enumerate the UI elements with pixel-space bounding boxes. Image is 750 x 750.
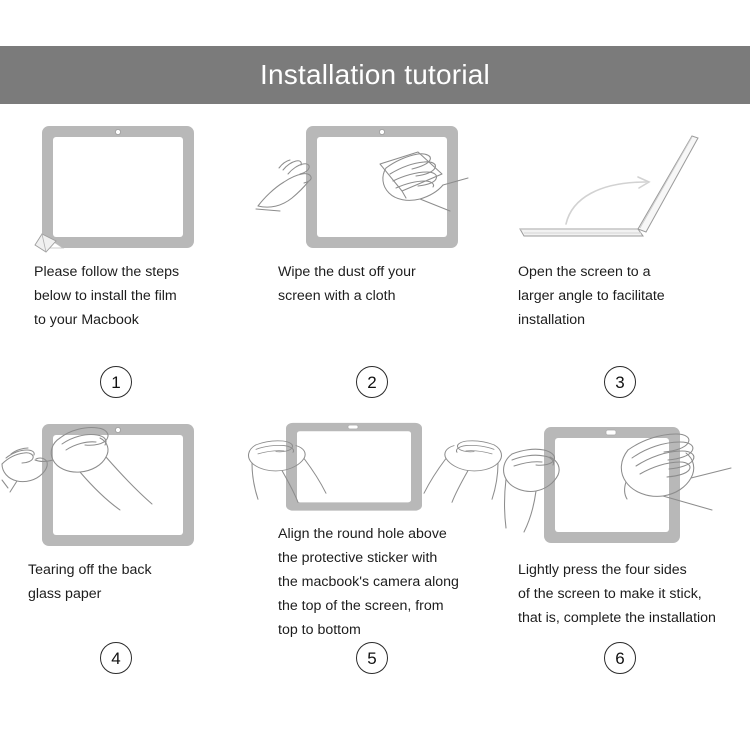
- step-card-5: Align the round hole above the protectiv…: [250, 410, 500, 710]
- step-number-badge-5: 5: [356, 642, 388, 674]
- page-title: Installation tutorial: [260, 61, 490, 89]
- step-card-4: Tearing off the back glass paper 4: [0, 410, 250, 710]
- step-card-3: Open the screen to a larger angle to fac…: [500, 112, 750, 410]
- step-badge-row-4: 4: [0, 642, 250, 710]
- step-caption-1: Please follow the steps below to install…: [0, 260, 250, 332]
- step-badge-row-5: 5: [250, 642, 500, 710]
- step-badge-row-6: 6: [500, 642, 750, 710]
- illustration-hands-pressing-screen-edges: [500, 410, 750, 558]
- step-number-badge-6: 6: [604, 642, 636, 674]
- step-badge-row-3: 3: [500, 366, 750, 410]
- illustration-two-hands-peeling-back-paper: [0, 410, 250, 558]
- step-caption-5: Align the round hole above the protectiv…: [250, 522, 500, 642]
- step-caption-2: Wipe the dust off your screen with a clo…: [250, 260, 500, 308]
- step-badge-row-2: 2: [250, 366, 500, 410]
- illustration-laptop-side-view-opening-arrow: [500, 112, 750, 260]
- step-caption-6: Lightly press the four sides of the scre…: [500, 558, 750, 630]
- step-number-badge-3: 3: [604, 366, 636, 398]
- steps-grid: Please follow the steps below to install…: [0, 112, 750, 710]
- step-card-2: Wipe the dust off your screen with a clo…: [250, 112, 500, 410]
- step-badge-row-1: 1: [0, 366, 250, 410]
- step-number-badge-2: 2: [356, 366, 388, 398]
- illustration-two-hands-aligning-film: [250, 410, 500, 522]
- step-number-badge-1: 1: [100, 366, 132, 398]
- step-card-6: Lightly press the four sides of the scre…: [500, 410, 750, 710]
- step-caption-4: Tearing off the back glass paper: [0, 558, 250, 606]
- header-bar: Installation tutorial: [0, 46, 750, 104]
- illustration-hand-wiping-screen-with-cloth: [250, 112, 500, 260]
- illustration-tablet-with-peeling-corner: [0, 112, 250, 260]
- step-card-1: Please follow the steps below to install…: [0, 112, 250, 410]
- step-number-badge-4: 4: [100, 642, 132, 674]
- step-caption-3: Open the screen to a larger angle to fac…: [500, 260, 750, 332]
